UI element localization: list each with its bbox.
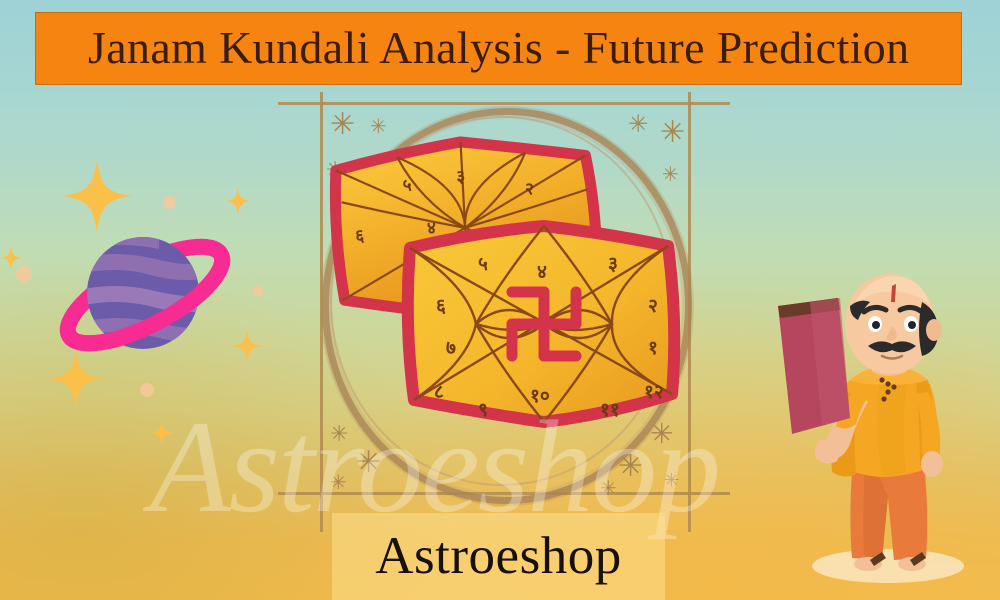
saturn-planet-illustration bbox=[55, 215, 235, 375]
svg-text:५: ५ bbox=[478, 253, 488, 275]
pandit-astrologer-illustration bbox=[770, 268, 985, 588]
page-title: Janam Kundali Analysis - Future Predicti… bbox=[88, 26, 910, 71]
brand-name: Astroeshop bbox=[375, 530, 621, 583]
star-icon: ✳ bbox=[664, 472, 679, 490]
star-dot-icon bbox=[140, 383, 154, 397]
svg-text:२: २ bbox=[525, 179, 535, 199]
star-icon: ✳ bbox=[600, 478, 617, 498]
svg-text:११: ११ bbox=[600, 399, 620, 421]
svg-text:३: ३ bbox=[456, 167, 466, 187]
frame-line-top bbox=[278, 102, 730, 105]
svg-text:४: ४ bbox=[537, 261, 547, 283]
star-dot-icon bbox=[163, 196, 176, 209]
sparkle-icon bbox=[225, 187, 251, 215]
svg-text:४: ४ bbox=[427, 218, 437, 238]
sparkle-icon bbox=[232, 330, 262, 362]
poster-canvas: ✳ ✳ ✳ ✳ ✳ ✳ ✳ ✳ ✳ ✳ ✳ ✳ ✳ bbox=[0, 0, 1000, 600]
svg-text:७: ७ bbox=[446, 337, 456, 359]
svg-text:१०: १० bbox=[530, 385, 550, 407]
svg-text:१: १ bbox=[648, 337, 658, 359]
star-dot-icon bbox=[16, 266, 32, 282]
svg-text:२: २ bbox=[648, 295, 658, 317]
sparkle-icon bbox=[150, 420, 174, 446]
kundali-charts-illustration: ३ २ ५ ४ ६ bbox=[318, 130, 688, 470]
brand-box: Astroeshop bbox=[332, 513, 665, 600]
svg-text:५: ५ bbox=[402, 176, 412, 196]
svg-text:६: ६ bbox=[355, 226, 365, 246]
svg-text:३: ३ bbox=[608, 253, 618, 275]
star-dot-icon bbox=[253, 286, 263, 296]
svg-text:१२: १२ bbox=[644, 381, 664, 403]
svg-text:६: ६ bbox=[436, 295, 446, 317]
svg-text:९: ९ bbox=[478, 399, 488, 421]
star-icon: ✳ bbox=[330, 472, 347, 492]
svg-text:८: ८ bbox=[434, 381, 444, 403]
title-banner: Janam Kundali Analysis - Future Predicti… bbox=[35, 12, 962, 85]
